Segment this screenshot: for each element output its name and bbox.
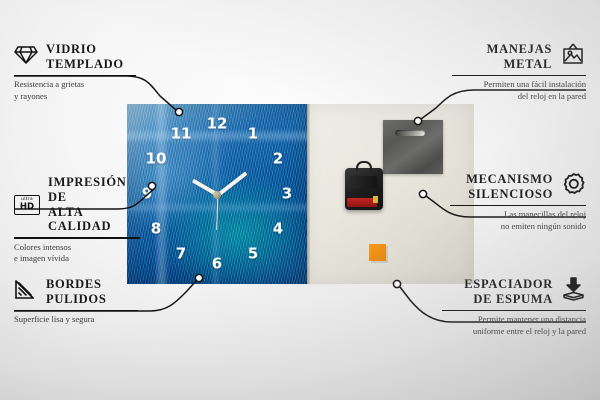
gear-icon [561, 172, 586, 201]
callout-subtitle-line1: Colores intensos [14, 242, 71, 252]
movement-hanging-loop [356, 161, 372, 171]
diamond-icon [14, 44, 38, 70]
callout-rule [14, 237, 140, 239]
movement-housing-detail [349, 176, 377, 188]
callout-subtitle-line2: no emiten ningún sonido [501, 221, 586, 231]
callout-rule [450, 205, 586, 207]
foam-spacer-icon [561, 277, 586, 306]
clock-numeral-8: 8 [151, 222, 161, 237]
callout-title-line1: BORDES [46, 277, 102, 291]
picture-hanger-icon [560, 43, 586, 71]
callout-title-line1: MECANISMO [466, 172, 553, 186]
callout-subtitle-line1: Superficie lisa y segura [14, 314, 94, 324]
callout-title-line2: METAL [504, 57, 552, 71]
callout-subtitle-line1: Las manecillas del reloj [504, 209, 586, 219]
callout-rule [14, 75, 136, 77]
clock-numeral-12: 12 [207, 117, 228, 132]
callout-mecanismo-silencioso[interactable]: MECANISMO SILENCIOSO Las manecillas del … [450, 172, 586, 232]
callout-title-line2: TEMPLADO [46, 57, 124, 71]
clock-numeral-4: 4 [273, 222, 283, 237]
clock-numeral-1: 1 [248, 127, 258, 142]
clock-numeral-5: 5 [248, 247, 258, 262]
clock-back-panel [307, 104, 474, 284]
callout-title-line1: VIDRIO [46, 42, 97, 56]
clock-numeral-2: 2 [273, 152, 283, 167]
clock-center-hub [213, 191, 221, 199]
callout-bordes-pulidos[interactable]: BORDES PULIDOS Superficie lisa y segura [14, 277, 138, 326]
callout-vidrio-templado[interactable]: VIDRIO TEMPLADO Resistencia a grietas y … [14, 42, 136, 102]
clock-numeral-9: 9 [142, 187, 152, 202]
callout-title-line1: MANEJAS [487, 42, 552, 56]
foam-spacer [369, 244, 386, 261]
callout-subtitle-line2: uniforme entre el reloj y la pared [473, 326, 586, 336]
callout-subtitle-line2: e imagen vívida [14, 253, 69, 263]
panel-edge [307, 104, 310, 284]
ultra-hd-icon: ultra HD [14, 195, 40, 215]
callout-subtitle-line1: Permiten una fácil instalación [484, 79, 586, 89]
clock-minute-hand [217, 171, 248, 196]
callout-subtitle-line1: Permite mantener una distancia [478, 314, 586, 324]
metal-hanger-plate [383, 120, 443, 174]
callout-title-line2: PULIDOS [46, 292, 106, 306]
callout-title-line1: IMPRESIÓN DE [48, 175, 127, 204]
callout-rule [442, 310, 586, 312]
polished-edges-icon [14, 279, 38, 305]
callout-manejas-metal[interactable]: MANEJAS METAL Permiten una fácil instala… [452, 42, 586, 102]
callout-title-line2: SILENCIOSO [468, 187, 553, 201]
callout-title-line1: ESPACIADOR [464, 277, 553, 291]
callout-title-line2: DE ESPUMA [473, 292, 553, 306]
callout-espaciador-espuma[interactable]: ESPACIADOR DE ESPUMA Permite mantener un… [442, 277, 586, 337]
callout-rule [452, 75, 586, 77]
battery-terminal [373, 196, 378, 203]
infographic-stage: 12 1 2 3 4 5 6 7 8 9 10 11 [0, 0, 600, 400]
clock-front-face: 12 1 2 3 4 5 6 7 8 9 10 11 [127, 104, 307, 284]
callout-subtitle-line2: y rayones [14, 91, 47, 101]
clock-numeral-6: 6 [212, 257, 222, 272]
callout-subtitle-line2: del reloj en la pared [518, 91, 586, 101]
callout-title-line2: ALTA CALIDAD [48, 205, 111, 234]
clock-numeral-11: 11 [171, 127, 192, 142]
hanger-slot [395, 130, 425, 136]
battery [347, 198, 377, 207]
callout-impresion-alta-calidad[interactable]: ultra HD IMPRESIÓN DE ALTA CALIDAD Color… [14, 175, 140, 265]
callout-rule [14, 310, 138, 312]
ultra-hd-icon-main-text: HD [20, 203, 34, 212]
clock-numeral-10: 10 [146, 152, 167, 167]
clock-numeral-3: 3 [282, 187, 292, 202]
quartz-movement [345, 168, 383, 210]
product-image: 12 1 2 3 4 5 6 7 8 9 10 11 [127, 104, 474, 284]
clock-numeral-7: 7 [176, 247, 186, 262]
glass-highlight-band [127, 132, 307, 140]
glass-highlight-band [157, 104, 166, 284]
callout-subtitle-line1: Resistencia a grietas [14, 79, 84, 89]
